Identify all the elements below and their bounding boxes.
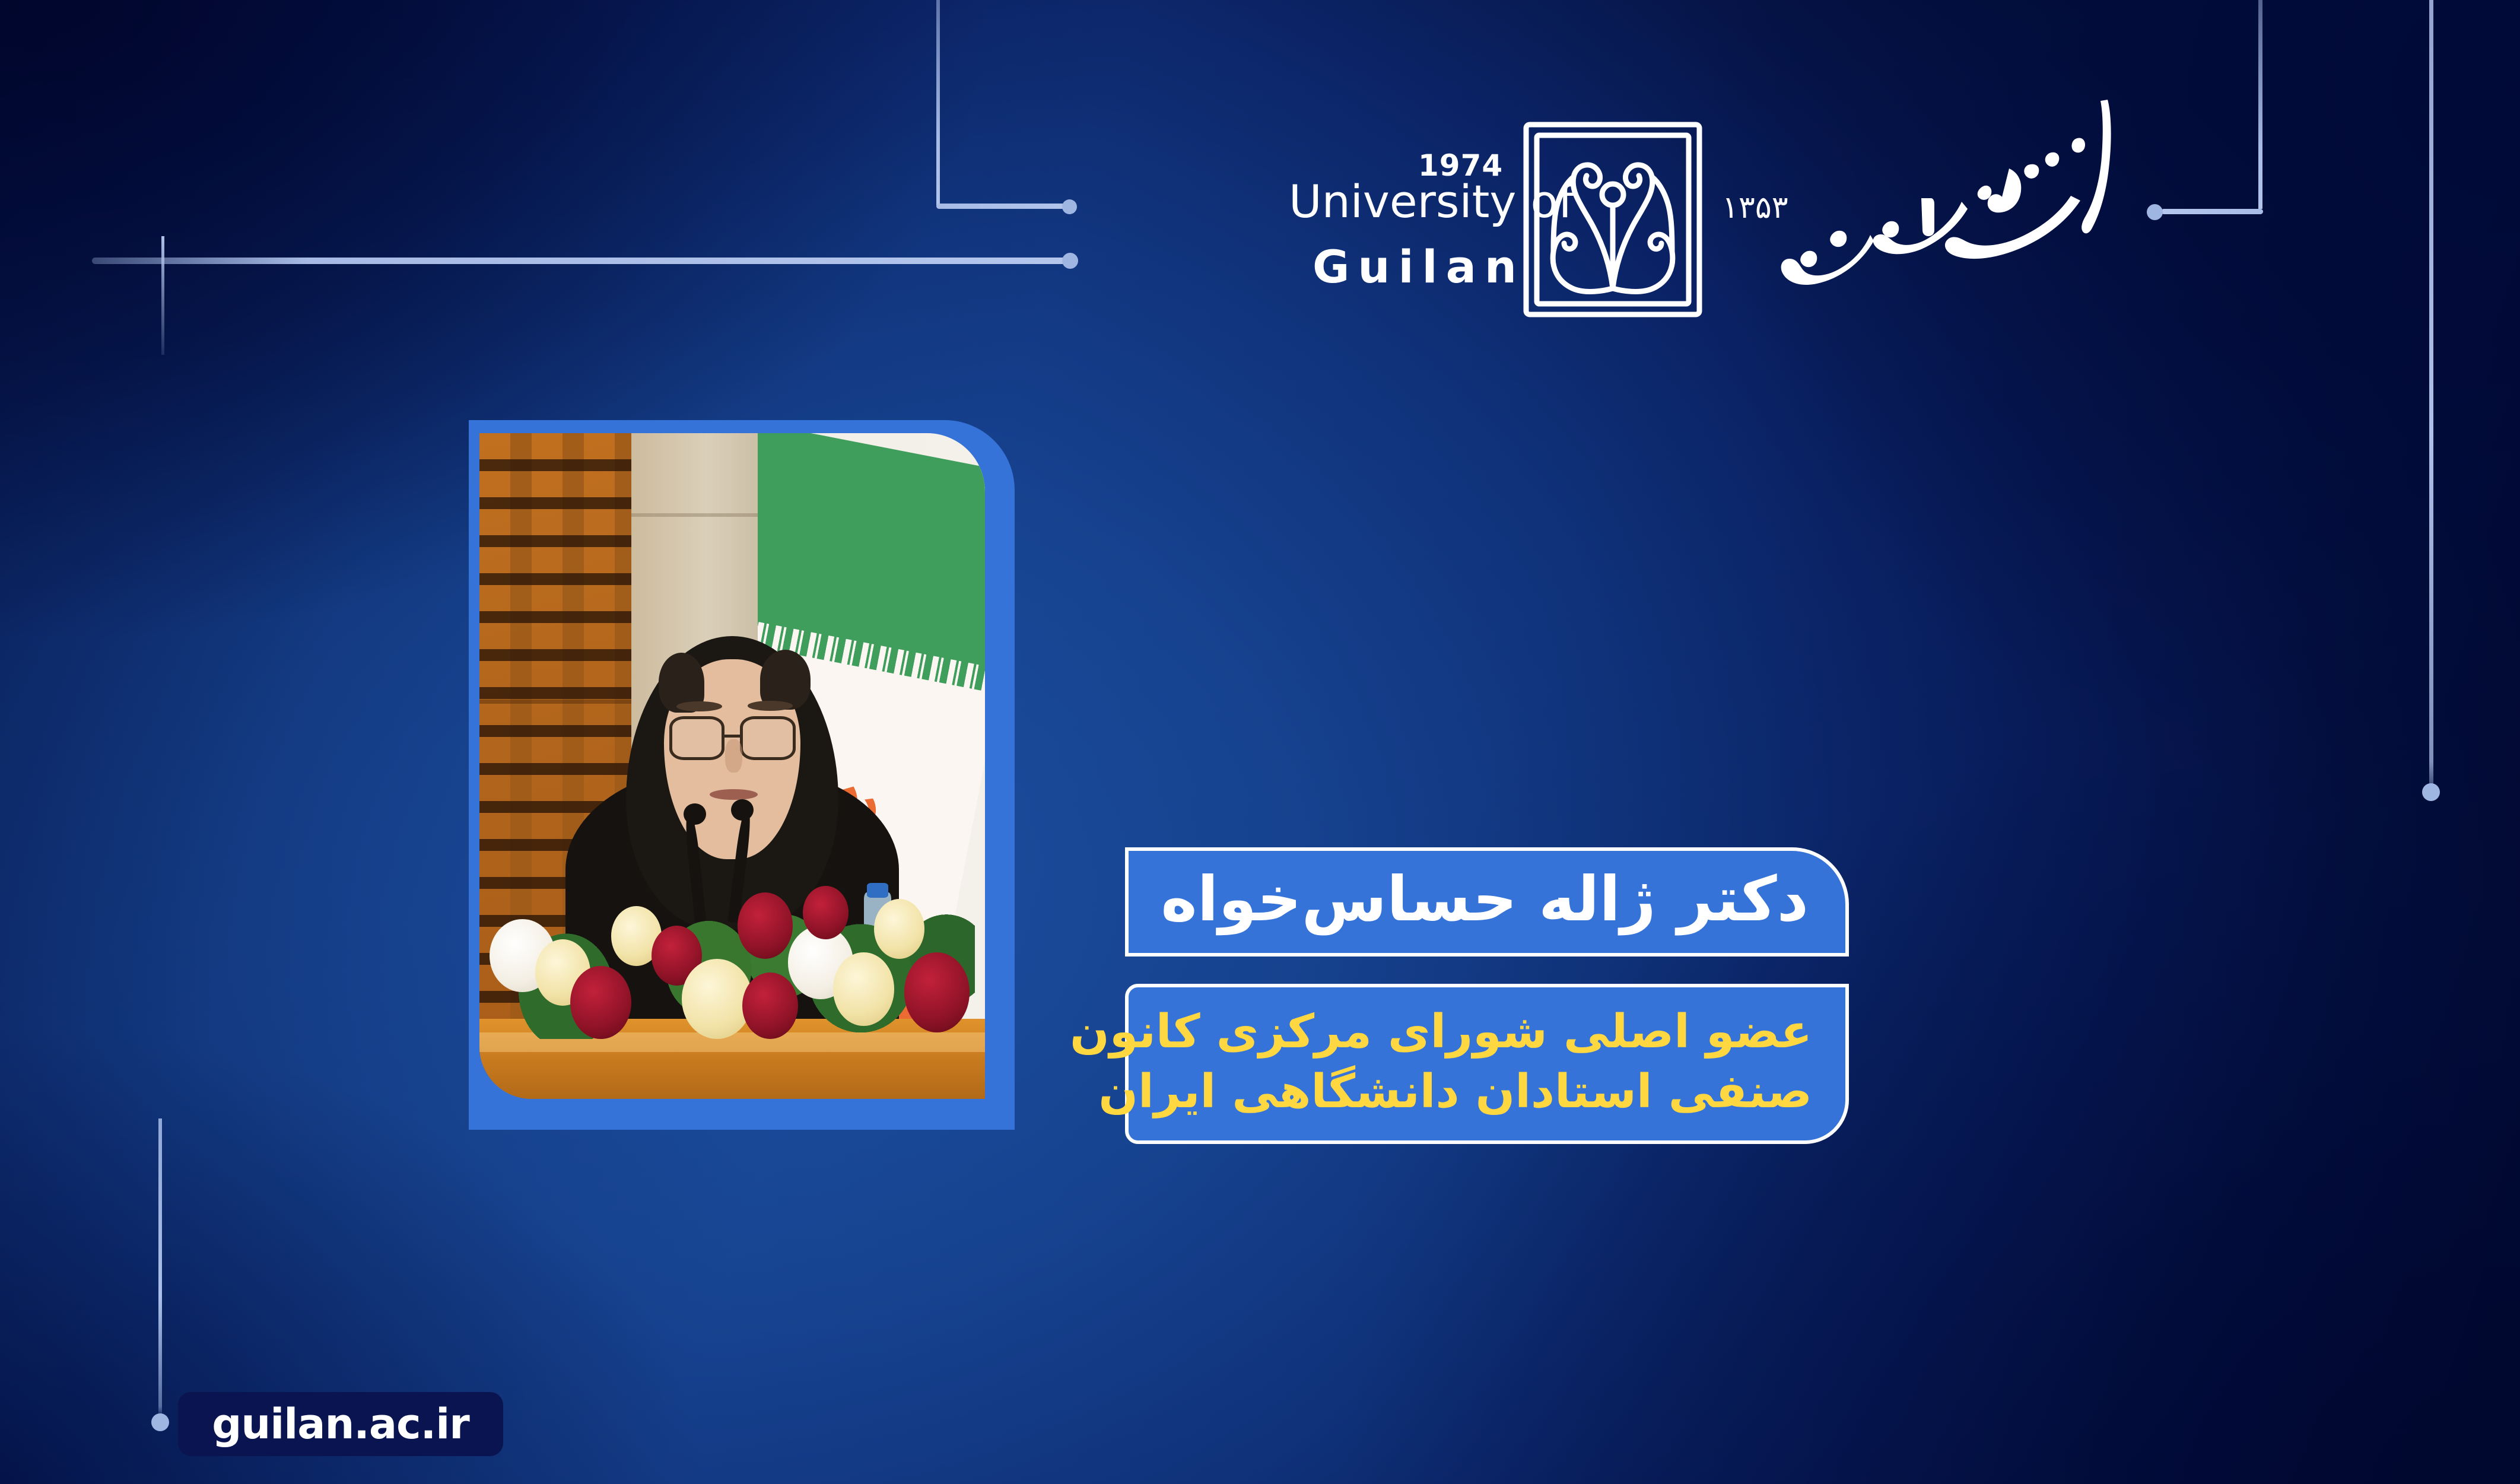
- decorative-dot-bottom-left: [151, 1413, 169, 1431]
- poster-root: 1974 University of Guilan ۱۳۵۳: [0, 0, 2520, 1484]
- person-title-line-1: عضو اصلی شورای مرکزی کانون: [1070, 1002, 1812, 1062]
- speaker-eyebrow-right: [748, 701, 793, 711]
- speaker-photo-frame: [469, 420, 1015, 1130]
- logo-name-persian-calligraphy: [1772, 82, 2134, 319]
- flower-red-1: [570, 966, 631, 1039]
- speaker-mouth: [710, 789, 758, 800]
- person-title-badge: عضو اصلی شورای مرکزی کانون صنفی استادان …: [1125, 984, 1849, 1144]
- microphone-right-head: [731, 799, 753, 821]
- flower-cream-3: [682, 959, 752, 1039]
- flower-cream-4: [833, 952, 894, 1025]
- person-name-badge: دکتر ژاله حساس‌خواه: [1125, 847, 1849, 957]
- flower-red-6: [904, 952, 970, 1032]
- flower-red-3: [738, 892, 793, 959]
- eyeglass-bridge: [724, 735, 740, 738]
- decorative-line-vertical-left-stub: [161, 236, 164, 355]
- person-title-line-2: صنفی استادان دانشگاهی ایران: [1098, 1062, 1812, 1122]
- decorative-line-vertical-top-right: [2258, 0, 2262, 209]
- website-url: guilan.ac.ir: [212, 1403, 469, 1445]
- decorative-line-vertical-bottom-left: [158, 1118, 162, 1415]
- decorative-dot-right: [2147, 204, 2163, 220]
- guilan-university-emblem-icon: [1520, 119, 1705, 320]
- photo-stone-seam: [631, 513, 768, 517]
- decorative-dot-far-right: [2422, 783, 2440, 801]
- university-logo[interactable]: 1974 University of Guilan ۱۳۵۳: [1216, 89, 2130, 320]
- person-name: دکتر ژاله حساس‌خواه: [1161, 868, 1809, 930]
- speaker-eyebrow-left: [676, 701, 722, 711]
- photo-wood-seam: [479, 700, 631, 704]
- eyeglass-lens-right: [740, 716, 796, 760]
- decorative-line-vertical-far-right: [2429, 0, 2433, 794]
- flower-cream-5: [874, 899, 924, 959]
- logo-english-lockup: 1974 University of Guilan: [1216, 89, 1549, 320]
- decorative-line-horizontal-right: [2161, 209, 2263, 214]
- decorative-line-horizontal-short: [936, 204, 1067, 209]
- decorative-dot-lower: [1062, 253, 1078, 269]
- decorative-dot-upper: [1062, 199, 1077, 214]
- decorative-line-vertical-top-left: [936, 0, 940, 205]
- flower-red-5: [803, 886, 849, 939]
- microphone-left-head: [684, 803, 706, 825]
- eyeglass-lens-left: [669, 716, 725, 760]
- speaker-nose: [725, 739, 742, 773]
- logo-name-line-2: Guilan: [1313, 244, 1525, 290]
- decorative-line-horizontal-long: [92, 258, 1069, 264]
- flower-red-4: [742, 973, 798, 1039]
- website-badge[interactable]: guilan.ac.ir: [178, 1392, 503, 1456]
- speaker-photo: [479, 433, 985, 1099]
